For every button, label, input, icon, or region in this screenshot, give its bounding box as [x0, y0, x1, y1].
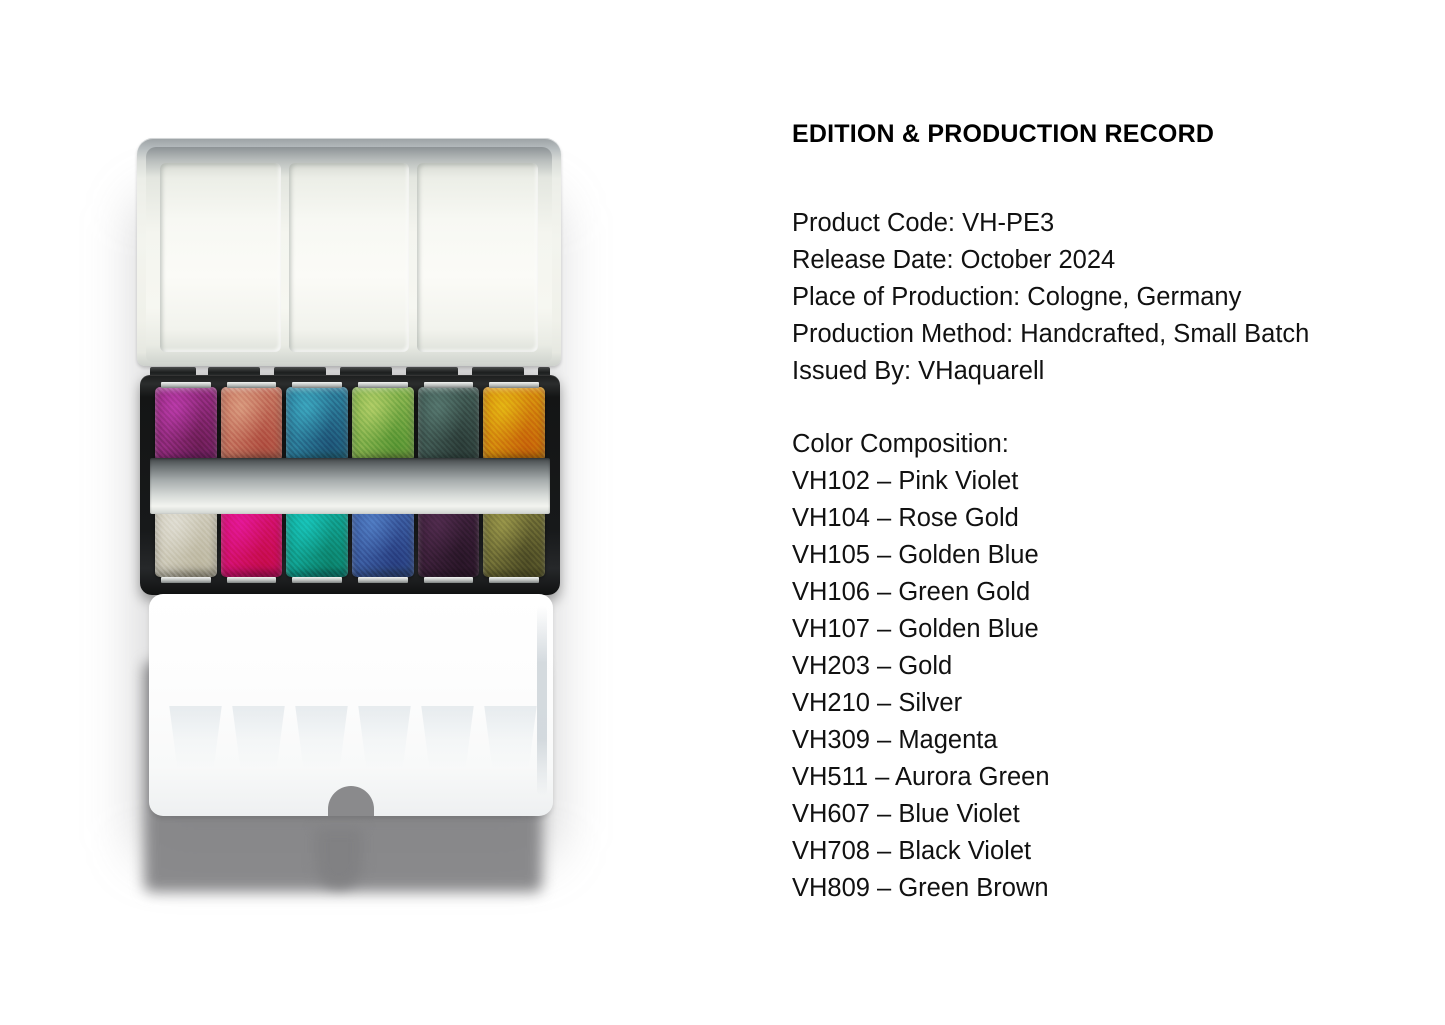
pan-paint-surface — [221, 503, 283, 577]
flap-mixing-well — [293, 706, 350, 768]
color-entry: VH708 – Black Violet — [792, 833, 1432, 870]
pan-paint-surface — [352, 503, 414, 577]
bottom-mixing-flap — [149, 594, 553, 816]
pan-retaining-clip — [227, 382, 277, 388]
pan-retaining-clip — [424, 382, 474, 388]
lid-mixing-well — [417, 163, 538, 352]
paint-pan-green-gold — [352, 387, 414, 461]
color-entry: VH511 – Aurora Green — [792, 759, 1432, 796]
paint-pan-silver — [155, 503, 217, 577]
product-photo — [0, 0, 760, 1025]
chrome-divider-strip — [150, 458, 550, 514]
record-body: Product Code: VH-PE3Release Date: Octobe… — [792, 205, 1432, 907]
record-detail-line: Production Method: Handcrafted, Small Ba… — [792, 316, 1432, 353]
pan-retaining-clip — [358, 382, 408, 388]
paint-pan-golden-blue — [286, 387, 348, 461]
tin-lid — [137, 138, 561, 366]
pan-paint-surface — [418, 387, 480, 461]
pan-retaining-clip — [161, 577, 211, 583]
paint-pan-gold — [483, 387, 545, 461]
flap-mixing-well — [167, 706, 224, 768]
mixing-well-row — [167, 706, 539, 768]
color-entry: VH203 – Gold — [792, 648, 1432, 685]
record-title: EDITION & PRODUCTION RECORD — [792, 120, 1214, 149]
pan-row-top — [155, 387, 545, 461]
section-spacer — [792, 390, 1432, 426]
lid-mixing-tray — [146, 147, 552, 362]
pan-retaining-clip — [292, 382, 342, 388]
pan-retaining-clip — [424, 577, 474, 583]
record-detail-line: Release Date: October 2024 — [792, 242, 1432, 279]
paint-pan-blue-violet — [352, 503, 414, 577]
pan-retaining-clip — [227, 577, 277, 583]
paint-pan-rose-gold — [221, 387, 283, 461]
color-entry: VH105 – Golden Blue — [792, 537, 1432, 574]
pan-paint-surface — [483, 503, 545, 577]
pan-paint-surface — [418, 503, 480, 577]
color-composition-list: VH102 – Pink VioletVH104 – Rose GoldVH10… — [792, 463, 1432, 907]
color-entry: VH309 – Magenta — [792, 722, 1432, 759]
composition-heading: Color Composition: — [792, 426, 1432, 463]
pan-row-bottom — [155, 503, 545, 577]
pan-paint-surface — [286, 387, 348, 461]
flap-mixing-well — [482, 706, 539, 768]
production-details: Product Code: VH-PE3Release Date: Octobe… — [792, 205, 1432, 390]
pan-paint-surface — [483, 387, 545, 461]
pan-paint-surface — [221, 387, 283, 461]
pan-retaining-clip — [489, 382, 539, 388]
color-entry: VH607 – Blue Violet — [792, 796, 1432, 833]
record-detail-line: Product Code: VH-PE3 — [792, 205, 1432, 242]
color-entry: VH107 – Golden Blue — [792, 611, 1432, 648]
pan-paint-surface — [352, 387, 414, 461]
record-detail-line: Place of Production: Cologne, Germany — [792, 279, 1432, 316]
paint-pan-aurora-green — [286, 503, 348, 577]
thumb-notch — [328, 786, 374, 816]
paint-pan-magenta — [221, 503, 283, 577]
color-entry: VH809 – Green Brown — [792, 870, 1432, 907]
flap-notch-shadow — [316, 828, 362, 888]
lid-mixing-well — [289, 163, 410, 352]
flap-mixing-well — [419, 706, 476, 768]
color-entry: VH106 – Green Gold — [792, 574, 1432, 611]
pan-paint-surface — [155, 387, 217, 461]
pan-retaining-clip — [161, 382, 211, 388]
pan-retaining-clip — [292, 577, 342, 583]
paint-pan-black-violet — [418, 503, 480, 577]
edition-production-record: EDITION & PRODUCTION RECORD Product Code… — [792, 0, 1432, 1025]
pan-retaining-clip — [358, 577, 408, 583]
color-entry: VH102 – Pink Violet — [792, 463, 1432, 500]
paint-pan-golden-blue-dark — [418, 387, 480, 461]
pan-paint-surface — [155, 503, 217, 577]
lid-mixing-well — [160, 163, 281, 352]
color-entry: VH210 – Silver — [792, 685, 1432, 722]
color-entry: VH104 – Rose Gold — [792, 500, 1432, 537]
paint-pan-green-brown — [483, 503, 545, 577]
flap-mixing-well — [230, 706, 287, 768]
paint-pan-pink-violet — [155, 387, 217, 461]
flap-mixing-well — [356, 706, 413, 768]
pan-retaining-clip — [489, 577, 539, 583]
pan-paint-surface — [286, 503, 348, 577]
record-detail-line: Issued By: VHaquarell — [792, 353, 1432, 390]
